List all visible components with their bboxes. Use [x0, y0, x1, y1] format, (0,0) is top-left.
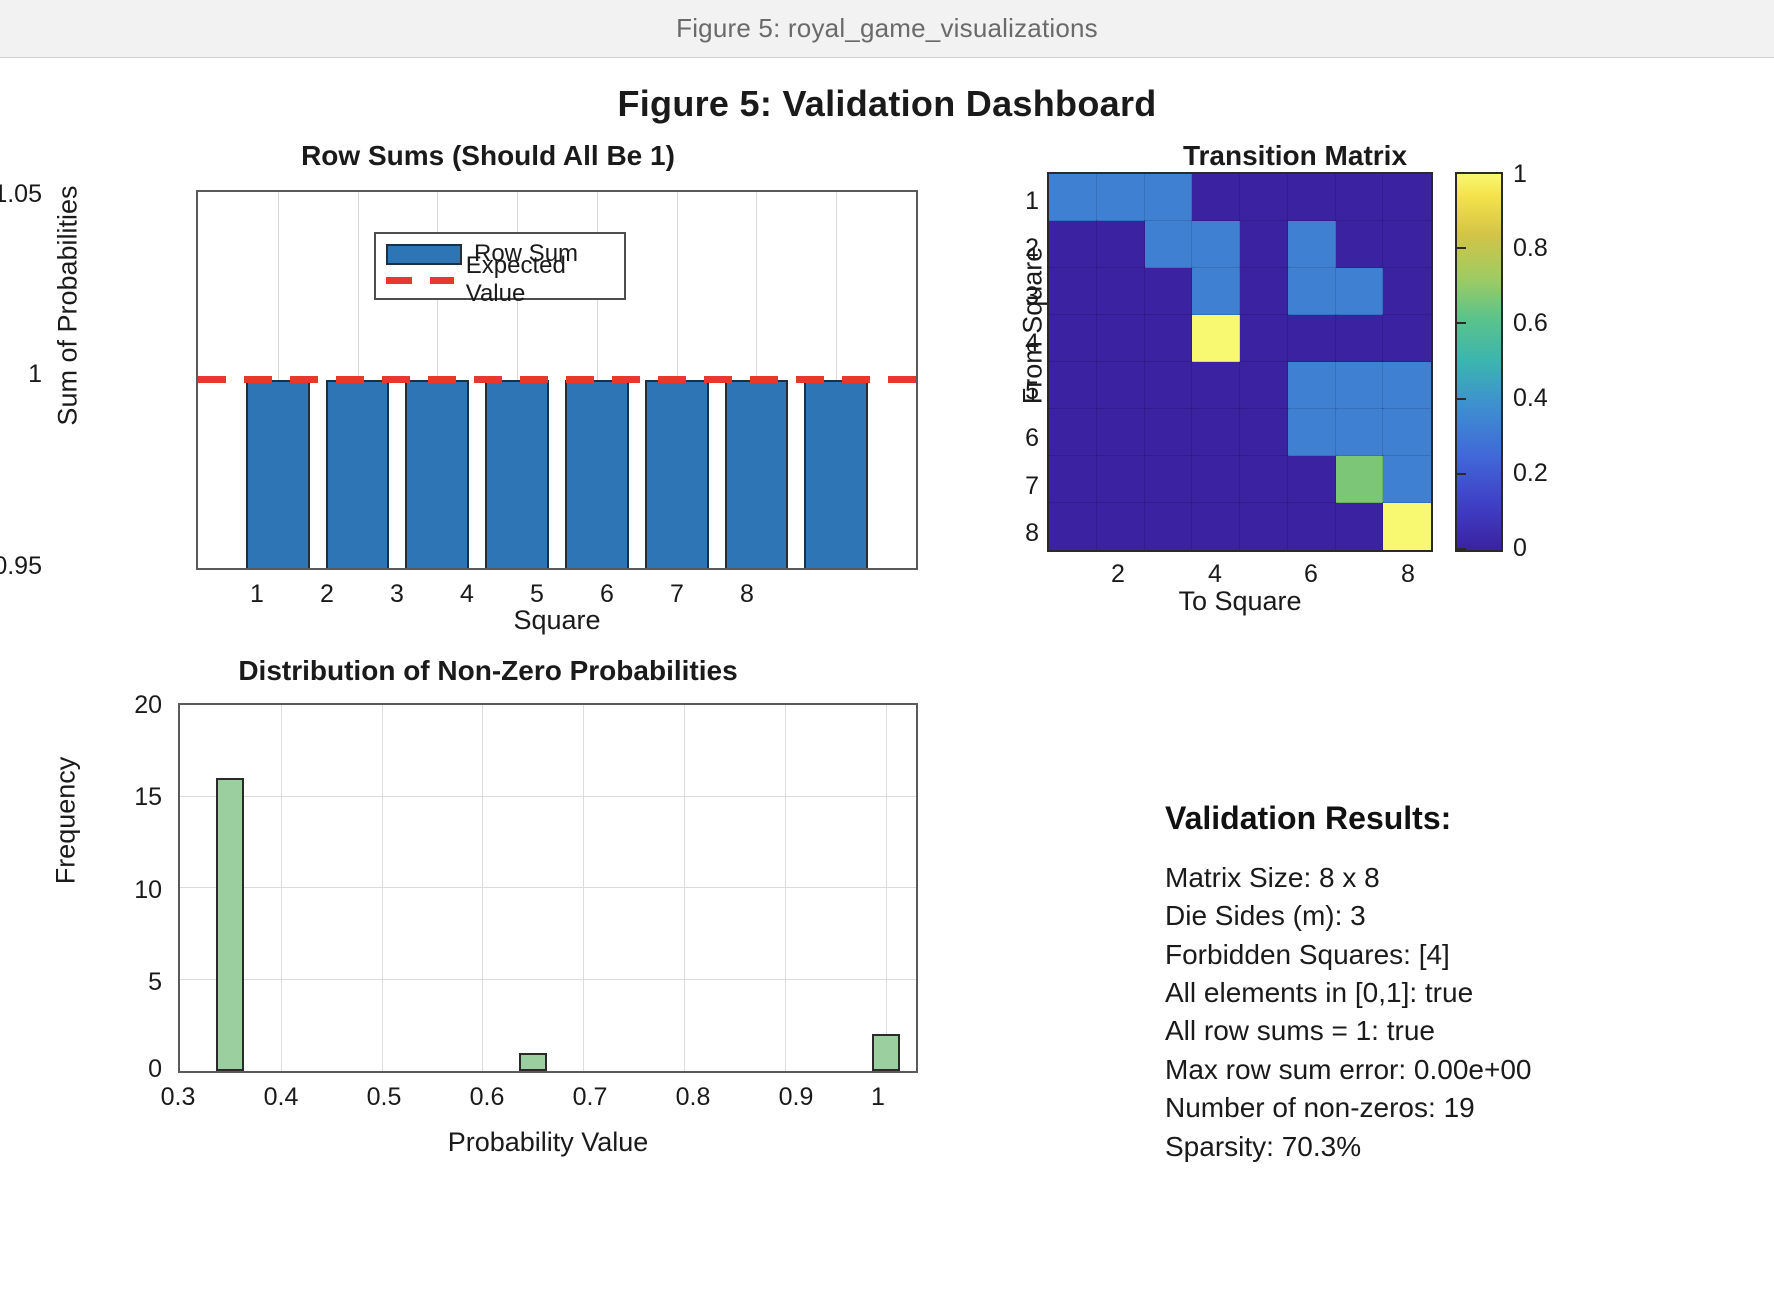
- gridline-vertical: [785, 705, 786, 1071]
- heatmap-cell-r8-c8[interactable]: [1383, 503, 1431, 550]
- row-sums-ytick-2: 0.95: [0, 552, 42, 581]
- bar-row-sum-3[interactable]: [405, 380, 469, 568]
- hist-xtick-0-4: 0.4: [241, 1083, 321, 1112]
- colorbar-tick-0: 0: [1513, 534, 1527, 563]
- row-sums-ylabel: Sum of Probabilities: [53, 136, 84, 476]
- heatmap-cell-r8-c4[interactable]: [1192, 503, 1240, 550]
- validation-line-forbidden: Forbidden Squares: [4]: [1165, 936, 1765, 974]
- heatmap-cell-r5-c6[interactable]: [1288, 362, 1336, 409]
- heatmap-cell-r1-c7[interactable]: [1336, 174, 1384, 221]
- validation-line-row-sums: All row sums = 1: true: [1165, 1012, 1765, 1050]
- heatmap-cell-r1-c4[interactable]: [1192, 174, 1240, 221]
- validation-line-sparsity: Sparsity: 70.3%: [1165, 1128, 1765, 1166]
- figure-suptitle: Figure 5: Validation Dashboard: [0, 83, 1774, 125]
- colorbar-tickmark: [1456, 247, 1466, 249]
- histogram-xlabel: Probability Value: [178, 1127, 918, 1158]
- heatmap-cell-r6-c6[interactable]: [1288, 409, 1336, 456]
- gridline-vertical: [886, 705, 887, 1071]
- legend-swatch-bar-icon: [386, 244, 462, 265]
- heatmap-cell-r6-c8[interactable]: [1383, 409, 1431, 456]
- colorbar: [1455, 172, 1503, 552]
- heatmap-cell-r4-c4[interactable]: [1192, 315, 1240, 362]
- tm-ytick-1: 1: [995, 187, 1039, 216]
- heatmap-cell-r8-c2[interactable]: [1097, 503, 1145, 550]
- histogram-bar-0.35[interactable]: [216, 778, 244, 1071]
- colorbar-tickmark: [1456, 398, 1466, 400]
- row-sums-legend: Row Sum Expected Value: [374, 232, 626, 300]
- heatmap-cell-r6-c5[interactable]: [1240, 409, 1288, 456]
- window-title: Figure 5: royal_game_visualizations: [676, 13, 1098, 44]
- validation-results-heading: Validation Results:: [1165, 800, 1765, 837]
- heatmap-cell-r1-c5[interactable]: [1240, 174, 1288, 221]
- histogram-bar-1[interactable]: [872, 1034, 900, 1071]
- heatmap-cell-r7-c8[interactable]: [1383, 456, 1431, 503]
- validation-line-nonzeros: Number of non-zeros: 19: [1165, 1089, 1765, 1127]
- histogram-title: Distribution of Non-Zero Probabilities: [108, 655, 868, 687]
- legend-swatch-dashed-line-icon: [386, 277, 454, 284]
- hist-ytick-10: 10: [42, 876, 162, 905]
- colorbar-tick-0-6: 0.6: [1513, 309, 1548, 338]
- bar-row-sum-4[interactable]: [485, 380, 549, 568]
- heatmap-cell-r2-c5[interactable]: [1240, 221, 1288, 268]
- heatmap-cell-r3-c5[interactable]: [1240, 268, 1288, 315]
- gridline-horizontal: [180, 887, 916, 888]
- tm-xtick-4: 4: [1190, 560, 1240, 589]
- row-sums-title: Row Sums (Should All Be 1): [108, 140, 868, 172]
- bar-row-sum-2[interactable]: [326, 380, 390, 568]
- gridline-vertical: [281, 705, 282, 1071]
- heatmap-cell-r6-c7[interactable]: [1336, 409, 1384, 456]
- histogram-bar-0.65[interactable]: [519, 1053, 547, 1071]
- heatmap-cell-r7-c2[interactable]: [1097, 456, 1145, 503]
- tm-ytick-7: 7: [995, 472, 1039, 501]
- heatmap-cell-r2-c6[interactable]: [1288, 221, 1336, 268]
- heatmap-cell-r3-c7[interactable]: [1336, 268, 1384, 315]
- transition-matrix-chart: Transition Matrix From Square 1 2 3 4 5 …: [985, 140, 1745, 640]
- colorbar-tick-0-2: 0.2: [1513, 459, 1548, 488]
- heatmap-cell-r7-c4[interactable]: [1192, 456, 1240, 503]
- row-sums-ytick-1: 1: [0, 360, 42, 389]
- heatmap-cell-r4-c3[interactable]: [1145, 315, 1193, 362]
- hist-ytick-20: 20: [42, 691, 162, 720]
- tm-ytick-5: 5: [995, 377, 1039, 406]
- heatmap-cell-r4-c7[interactable]: [1336, 315, 1384, 362]
- tm-ytick-6: 6: [995, 424, 1039, 453]
- tm-ytick-4: 4: [995, 329, 1039, 358]
- histogram-chart: Distribution of Non-Zero Probabilities F…: [48, 655, 878, 1155]
- heatmap-cell-r2-c4[interactable]: [1192, 221, 1240, 268]
- colorbar-tickmark: [1456, 548, 1466, 550]
- hist-ytick-5: 5: [42, 968, 162, 997]
- heatmap-cell-r5-c2[interactable]: [1097, 362, 1145, 409]
- bar-row-sum-5[interactable]: [565, 380, 629, 568]
- heatmap-cell-r2-c2[interactable]: [1097, 221, 1145, 268]
- heatmap-cell-r7-c7[interactable]: [1336, 456, 1384, 503]
- colorbar-tick-1: 1: [1513, 160, 1527, 189]
- gridline-vertical: [583, 705, 584, 1071]
- validation-line-die-sides: Die Sides (m): 3: [1165, 897, 1765, 935]
- tm-xtick-8: 8: [1383, 560, 1433, 589]
- bar-row-sum-7[interactable]: [725, 380, 789, 568]
- legend-entry-expected-value: Expected Value: [386, 267, 614, 293]
- heatmap-cell-r1-c6[interactable]: [1288, 174, 1336, 221]
- heatmap-cell-r7-c1[interactable]: [1049, 456, 1097, 503]
- colorbar-tick-0-8: 0.8: [1513, 234, 1548, 263]
- window-titlebar: Figure 5: royal_game_visualizations: [0, 0, 1774, 58]
- heatmap-cell-r2-c1[interactable]: [1049, 221, 1097, 268]
- tm-xtick-6: 6: [1286, 560, 1336, 589]
- heatmap-cell-r7-c3[interactable]: [1145, 456, 1193, 503]
- validation-line-max-error: Max row sum error: 0.00e+00: [1165, 1051, 1765, 1089]
- bar-row-sum-1[interactable]: [246, 380, 310, 568]
- heatmap-cell-r4-c6[interactable]: [1288, 315, 1336, 362]
- heatmap-cell-r7-c6[interactable]: [1288, 456, 1336, 503]
- heatmap-cell-r6-c3[interactable]: [1145, 409, 1193, 456]
- gridline-vertical: [382, 705, 383, 1071]
- transition-matrix-title: Transition Matrix: [1045, 140, 1545, 172]
- heatmap-cell-r5-c3[interactable]: [1145, 362, 1193, 409]
- colorbar-tick-0-4: 0.4: [1513, 384, 1548, 413]
- colorbar-tickmark: [1456, 473, 1466, 475]
- hist-xtick-0-5: 0.5: [344, 1083, 424, 1112]
- colorbar-tickmark: [1456, 322, 1466, 324]
- heatmap-cell-r5-c1[interactable]: [1049, 362, 1097, 409]
- heatmap-cell-r8-c6[interactable]: [1288, 503, 1336, 550]
- heatmap-cell-r6-c1[interactable]: [1049, 409, 1097, 456]
- heatmap-cell-r3-c4[interactable]: [1192, 268, 1240, 315]
- legend-label-expected-value: Expected Value: [466, 252, 614, 308]
- heatmap-cell-r4-c8[interactable]: [1383, 315, 1431, 362]
- heatmap-cell-r8-c5[interactable]: [1240, 503, 1288, 550]
- hist-xtick-0-9: 0.9: [756, 1083, 836, 1112]
- heatmap-cell-r3-c2[interactable]: [1097, 268, 1145, 315]
- hist-xtick-0-6: 0.6: [447, 1083, 527, 1112]
- tm-ytick-2: 2: [995, 234, 1039, 263]
- hist-xtick-0-3: 0.3: [138, 1083, 218, 1112]
- gridline-horizontal: [180, 796, 916, 797]
- heatmap-cell-r5-c8[interactable]: [1383, 362, 1431, 409]
- heatmap-cell-r3-c8[interactable]: [1383, 268, 1431, 315]
- heatmap-cell-r4-c2[interactable]: [1097, 315, 1145, 362]
- heatmap-cell-r6-c4[interactable]: [1192, 409, 1240, 456]
- gridline-vertical: [684, 705, 685, 1071]
- heatmap-cell-r8-c7[interactable]: [1336, 503, 1384, 550]
- heatmap-cell-r8-c3[interactable]: [1145, 503, 1193, 550]
- tm-ytick-3: 3: [995, 282, 1039, 311]
- heatmap-cell-r8-c1[interactable]: [1049, 503, 1097, 550]
- heatmap-cell-r1-c3[interactable]: [1145, 174, 1193, 221]
- heatmap-cell-r3-c3[interactable]: [1145, 268, 1193, 315]
- transition-matrix-xlabel: To Square: [1047, 586, 1433, 617]
- hist-xtick-1: 1: [838, 1083, 918, 1112]
- expected-value-line: [198, 376, 916, 383]
- tm-xtick-2: 2: [1093, 560, 1143, 589]
- heatmap-cell-r3-c6[interactable]: [1288, 268, 1336, 315]
- hist-xtick-0-8: 0.8: [653, 1083, 733, 1112]
- hist-ytick-15: 15: [42, 783, 162, 812]
- transition-matrix-grid: [1047, 172, 1433, 552]
- validation-line-elements-range: All elements in [0,1]: true: [1165, 974, 1765, 1012]
- hist-ytick-0: 0: [42, 1055, 162, 1084]
- validation-line-matrix-size: Matrix Size: 8 x 8: [1165, 859, 1765, 897]
- histogram-plot-area: [178, 703, 918, 1073]
- heatmap-cell-r5-c4[interactable]: [1192, 362, 1240, 409]
- heatmap-cell-r1-c1[interactable]: [1049, 174, 1097, 221]
- heatmap-cell-r2-c8[interactable]: [1383, 221, 1431, 268]
- row-sums-xlabel: Square: [196, 605, 918, 636]
- gridline-horizontal: [180, 979, 916, 980]
- bar-row-sum-6[interactable]: [645, 380, 709, 568]
- heatmap-cell-r2-c3[interactable]: [1145, 221, 1193, 268]
- heatmap-cell-r4-c1[interactable]: [1049, 315, 1097, 362]
- heatmap-cell-r4-c5[interactable]: [1240, 315, 1288, 362]
- validation-results-panel: Validation Results: Matrix Size: 8 x 8 D…: [1165, 800, 1765, 1180]
- heatmap-cell-r7-c5[interactable]: [1240, 456, 1288, 503]
- gridline-vertical: [482, 705, 483, 1071]
- heatmap-cell-r1-c2[interactable]: [1097, 174, 1145, 221]
- heatmap-cell-r1-c8[interactable]: [1383, 174, 1431, 221]
- heatmap-cell-r3-c1[interactable]: [1049, 268, 1097, 315]
- heatmap-cell-r5-c5[interactable]: [1240, 362, 1288, 409]
- heatmap-cell-r6-c2[interactable]: [1097, 409, 1145, 456]
- heatmap-cell-r5-c7[interactable]: [1336, 362, 1384, 409]
- tm-ytick-8: 8: [995, 519, 1039, 548]
- heatmap-cell-r2-c7[interactable]: [1336, 221, 1384, 268]
- bar-row-sum-8[interactable]: [804, 380, 868, 568]
- hist-xtick-0-7: 0.7: [550, 1083, 630, 1112]
- row-sums-ytick-0: 1.05: [0, 180, 42, 209]
- row-sums-chart: Row Sums (Should All Be 1) Sum of Probab…: [48, 140, 878, 640]
